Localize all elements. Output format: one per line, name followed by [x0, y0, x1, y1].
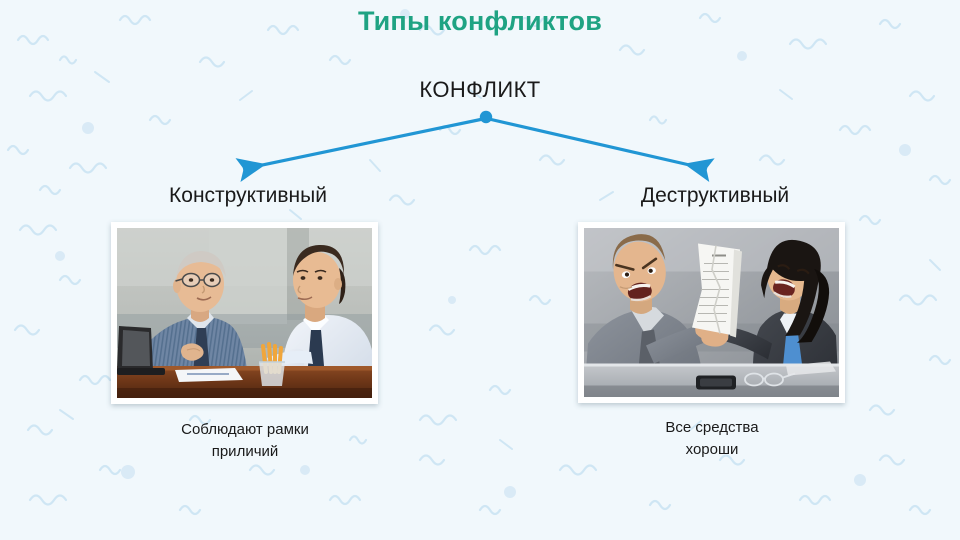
page-title: Типы конфликтов — [0, 6, 960, 37]
diagram-root-node — [480, 111, 492, 123]
diagram-root-label: КОНФЛИКТ — [0, 77, 960, 103]
branch-label-constructive: Конструктивный — [63, 184, 433, 208]
photo-constructive — [117, 228, 372, 398]
branch-label-destructive: Деструктивный — [530, 184, 900, 208]
diagram-connectors — [0, 0, 960, 260]
caption-constructive: Соблюдают рамки приличий — [100, 419, 390, 463]
connector-line-right — [489, 119, 707, 169]
caption-destructive: Все средства хороши — [573, 417, 851, 461]
connector-line-left — [243, 119, 483, 169]
slide-canvas: Типы конфликтов КОНФЛИКТ Конструктивный … — [0, 0, 960, 540]
photo-frame-destructive[interactable] — [578, 222, 845, 403]
photo-frame-constructive[interactable] — [111, 222, 378, 404]
photo-destructive — [584, 228, 839, 397]
